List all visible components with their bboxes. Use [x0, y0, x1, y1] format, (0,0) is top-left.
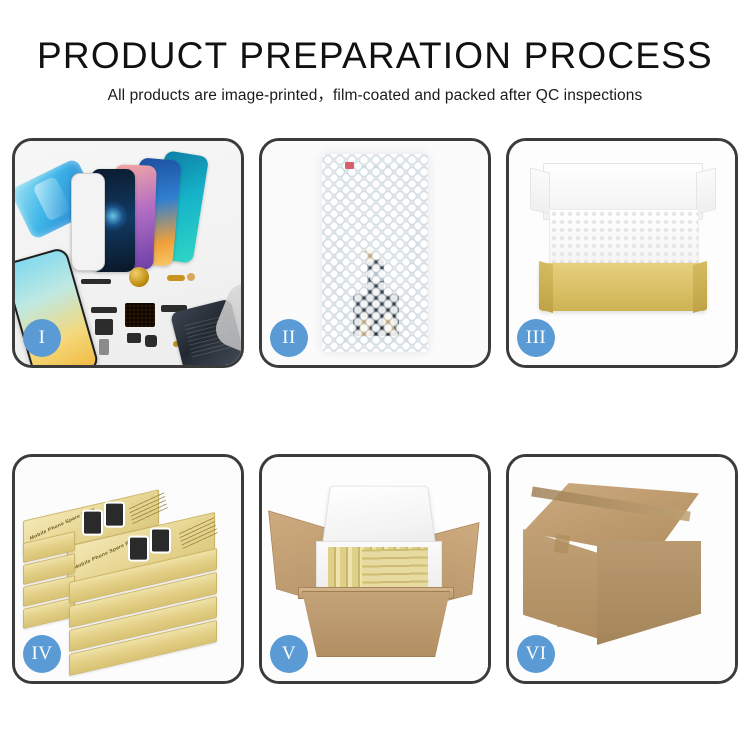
red-label-tab — [345, 162, 354, 169]
spare-parts-group — [81, 271, 241, 365]
page-header: PRODUCT PREPARATION PROCESS All products… — [0, 0, 750, 105]
part-connector — [187, 273, 195, 281]
part-button-flex — [167, 275, 185, 281]
process-step-panel-1[interactable]: I — [12, 138, 244, 368]
process-step-panel-6[interactable]: VI — [506, 454, 738, 684]
page-title: PRODUCT PREPARATION PROCESS — [0, 0, 750, 76]
bubble-texture — [322, 154, 428, 352]
gold-box-tray — [539, 263, 707, 311]
tray-lip-left — [539, 261, 553, 313]
open-shipping-carton — [276, 479, 472, 659]
box-spec-lines-front — [178, 515, 218, 550]
carton-tape-upper — [554, 534, 571, 554]
carton-body — [302, 591, 450, 657]
tray-lip-right — [693, 261, 707, 313]
part-camera-module — [145, 335, 157, 347]
sealed-carton — [523, 483, 719, 655]
gold-box-stack: Mobile Phone Spare Parts Mobile Phone Sp… — [23, 481, 231, 659]
part-flex-cable-a — [91, 307, 117, 313]
process-step-panel-3[interactable]: III — [506, 138, 738, 368]
carton-tape-lower — [557, 611, 571, 627]
step-badge-1: I — [23, 319, 61, 357]
step-badge-4: IV — [23, 635, 61, 673]
box-spec-lines-rear — [128, 490, 168, 525]
part-speaker — [127, 333, 141, 343]
step-badge-3: III — [517, 319, 555, 357]
step-badge-2: II — [270, 319, 308, 357]
bubble-wrap-bag — [322, 154, 428, 352]
open-gold-box — [527, 163, 717, 333]
foam-sheet — [549, 209, 699, 269]
part-flex-cable-b — [95, 319, 113, 335]
box-thumbnail-front-1 — [130, 538, 147, 560]
step-badge-5: V — [270, 635, 308, 673]
step-badge-6: VI — [517, 635, 555, 673]
process-step-panel-4[interactable]: Mobile Phone Spare Parts Mobile Phone Sp… — [12, 454, 244, 684]
phone-screen-fan — [77, 153, 227, 278]
box-thumbnail-front-2 — [152, 529, 169, 551]
part-coin-icon — [129, 267, 149, 287]
process-step-panel-2[interactable]: II — [259, 138, 491, 368]
process-step-grid: I II — [12, 138, 738, 686]
box-thumbnail-rear-2 — [106, 504, 123, 526]
part-sim-tray — [99, 339, 109, 355]
box-thumbnail-rear-1 — [84, 512, 101, 534]
foam-box-lid — [321, 486, 436, 549]
carton-right-face — [597, 541, 701, 645]
page-subtitle: All products are image-printed，film-coat… — [0, 76, 750, 105]
part-chip-grid — [125, 303, 155, 327]
product-preparation-page: PRODUCT PREPARATION PROCESS All products… — [0, 0, 750, 750]
part-strip — [81, 279, 111, 284]
process-step-panel-5[interactable]: V — [259, 454, 491, 684]
gold-boxes-inside-right — [362, 548, 429, 589]
phone-screen-white — [71, 173, 105, 271]
